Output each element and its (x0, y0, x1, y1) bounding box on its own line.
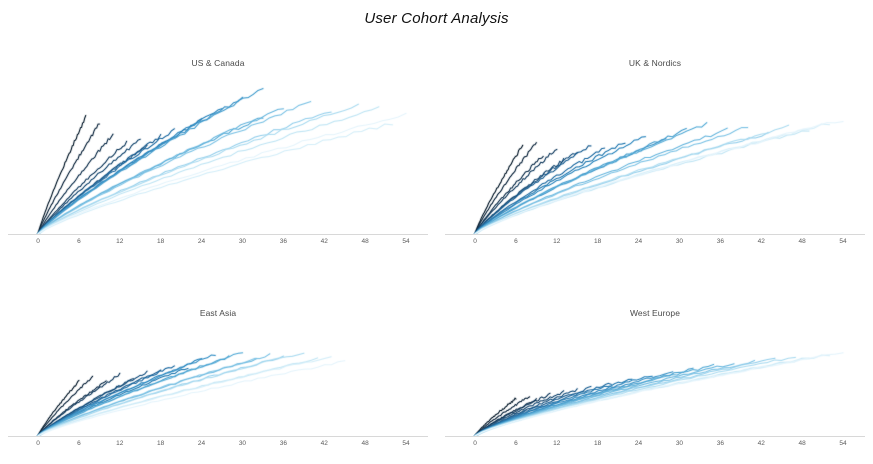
x-tick-label: 12 (116, 440, 123, 447)
x-tick-label: 54 (839, 440, 846, 447)
cohort-line-halo (475, 122, 843, 234)
subplot-east-asia[interactable]: East Asia 061218243036424854 (8, 308, 428, 456)
x-tick-label: 24 (635, 440, 642, 447)
subplot-title-0: US & Canada (8, 58, 428, 68)
x-tick-label: 18 (594, 440, 601, 447)
cohort-line-halo (475, 131, 809, 234)
x-tick-label: 6 (77, 238, 81, 245)
cohort-line (475, 353, 843, 436)
x-tick-label: 6 (514, 440, 518, 447)
x-tick-label: 24 (635, 238, 642, 245)
cohort-line (475, 128, 727, 234)
x-tick-label: 18 (594, 238, 601, 245)
x-tick-label: 36 (280, 238, 287, 245)
x-axis-2: 061218243036424854 (8, 436, 428, 456)
figure-title: User Cohort Analysis (0, 10, 873, 27)
cohort-line (475, 131, 809, 234)
x-tick-label: 48 (798, 238, 805, 245)
subplot-west-europe[interactable]: West Europe 061218243036424854 (445, 308, 865, 456)
x-tick-label: 18 (157, 238, 164, 245)
x-tick-label: 30 (239, 238, 246, 245)
x-tick-label: 0 (36, 440, 40, 447)
x-axis-line-3 (445, 436, 865, 437)
subplot-title-3: West Europe (445, 308, 865, 318)
lines-svg-3 (445, 326, 865, 436)
x-tick-label: 30 (676, 440, 683, 447)
plot-area-3 (445, 326, 865, 436)
lines-svg-1 (445, 76, 865, 234)
x-tick-label: 42 (758, 238, 765, 245)
cohort-line (475, 355, 829, 436)
x-tick-label: 42 (758, 440, 765, 447)
plot-area-1 (445, 76, 865, 234)
x-tick-label: 48 (798, 440, 805, 447)
x-tick-label: 36 (717, 440, 724, 447)
cohort-line-halo (475, 353, 843, 436)
x-tick-label: 54 (839, 238, 846, 245)
plot-area-2 (8, 326, 428, 436)
x-tick-label: 0 (473, 440, 477, 447)
subplot-title-1: UK & Nordics (445, 58, 865, 68)
plot-area-0 (8, 76, 428, 234)
x-tick-label: 0 (473, 238, 477, 245)
cohort-line-halo (475, 355, 829, 436)
x-tick-label: 36 (280, 440, 287, 447)
x-tick-label: 12 (553, 440, 560, 447)
x-tick-label: 12 (553, 238, 560, 245)
cohort-line-halo (475, 128, 727, 234)
x-tick-label: 54 (402, 440, 409, 447)
cohort-line-halo (475, 124, 829, 234)
x-axis-line-1 (445, 234, 865, 235)
x-axis-line-0 (8, 234, 428, 235)
x-tick-label: 54 (402, 238, 409, 245)
cohort-line (475, 124, 829, 234)
lines-svg-2 (8, 326, 428, 436)
lines-svg-0 (8, 76, 428, 234)
x-tick-label: 42 (321, 238, 328, 245)
x-tick-label: 6 (77, 440, 81, 447)
x-axis-0: 061218243036424854 (8, 234, 428, 254)
x-tick-label: 24 (198, 238, 205, 245)
x-tick-label: 0 (36, 238, 40, 245)
x-tick-label: 12 (116, 238, 123, 245)
x-tick-label: 30 (239, 440, 246, 447)
cohort-line (475, 122, 843, 234)
subplot-us-and-canada[interactable]: US & Canada 061218243036424854 (8, 58, 428, 254)
x-tick-label: 6 (514, 238, 518, 245)
subplot-title-2: East Asia (8, 308, 428, 318)
x-tick-label: 48 (361, 440, 368, 447)
x-axis-1: 061218243036424854 (445, 234, 865, 254)
x-tick-label: 30 (676, 238, 683, 245)
x-axis-line-2 (8, 436, 428, 437)
figure-canvas: User Cohort Analysis US & Canada 0612182… (0, 0, 873, 464)
x-tick-label: 18 (157, 440, 164, 447)
x-tick-label: 36 (717, 238, 724, 245)
x-tick-label: 24 (198, 440, 205, 447)
subplot-uk-and-nordics[interactable]: UK & Nordics 061218243036424854 (445, 58, 865, 254)
x-axis-3: 061218243036424854 (445, 436, 865, 456)
x-tick-label: 42 (321, 440, 328, 447)
x-tick-label: 48 (361, 238, 368, 245)
